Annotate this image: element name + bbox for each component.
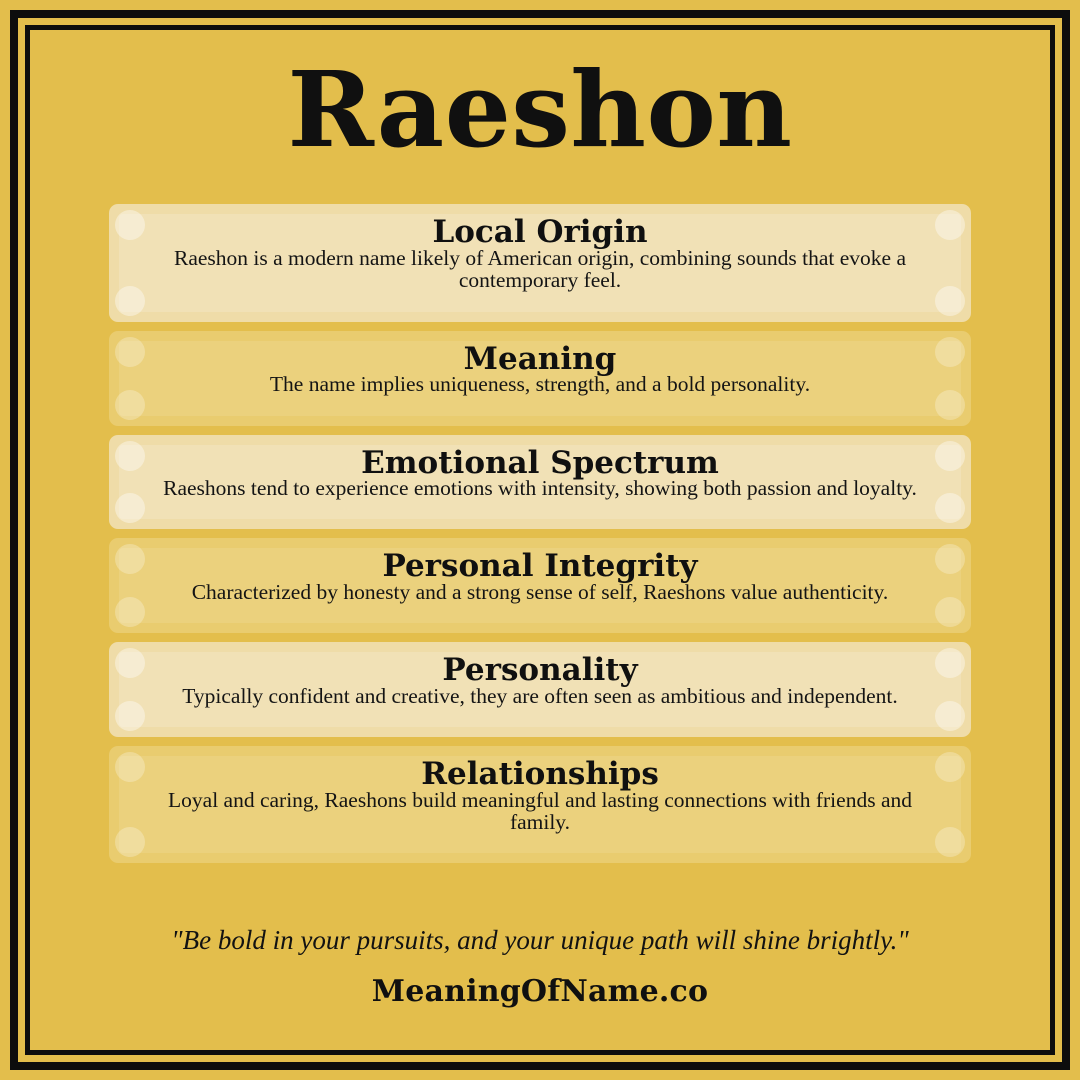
section-card-local-origin: Local Origin Raeshon is a modern name li…	[109, 204, 971, 321]
section-heading: Personal Integrity	[135, 552, 945, 581]
outer-frame-border: Raeshon Local Origin Raeshon is a modern…	[10, 10, 1070, 1070]
footer-site-name: MeaningOfName.co	[109, 974, 971, 1010]
section-heading: Local Origin	[135, 218, 945, 247]
section-card-list: Local Origin Raeshon is a modern name li…	[109, 204, 971, 863]
footer: "Be bold in your pursuits, and your uniq…	[109, 924, 971, 1050]
section-body: Raeshon is a modern name likely of Ameri…	[135, 247, 945, 292]
poster: Raeshon Local Origin Raeshon is a modern…	[0, 0, 1080, 1080]
section-body: Characterized by honesty and a strong se…	[135, 581, 945, 603]
inner-frame-border: Raeshon Local Origin Raeshon is a modern…	[25, 25, 1055, 1055]
footer-quote: "Be bold in your pursuits, and your uniq…	[109, 924, 971, 956]
section-card-relationships: Relationships Loyal and caring, Raeshons…	[109, 746, 971, 863]
section-heading: Emotional Spectrum	[135, 449, 945, 478]
section-body: Typically confident and creative, they a…	[135, 685, 945, 707]
section-body: Raeshons tend to experience emotions wit…	[135, 477, 945, 499]
section-heading: Personality	[135, 656, 945, 685]
section-card-emotional-spectrum: Emotional Spectrum Raeshons tend to expe…	[109, 435, 971, 530]
section-heading: Relationships	[135, 760, 945, 789]
section-body: Loyal and caring, Raeshons build meaning…	[135, 789, 945, 834]
section-card-personality: Personality Typically confident and crea…	[109, 642, 971, 737]
section-card-meaning: Meaning The name implies uniqueness, str…	[109, 331, 971, 426]
section-card-personal-integrity: Personal Integrity Characterized by hone…	[109, 538, 971, 633]
section-heading: Meaning	[135, 345, 945, 374]
section-body: The name implies uniqueness, strength, a…	[135, 373, 945, 395]
page-title: Raeshon	[30, 30, 1050, 168]
